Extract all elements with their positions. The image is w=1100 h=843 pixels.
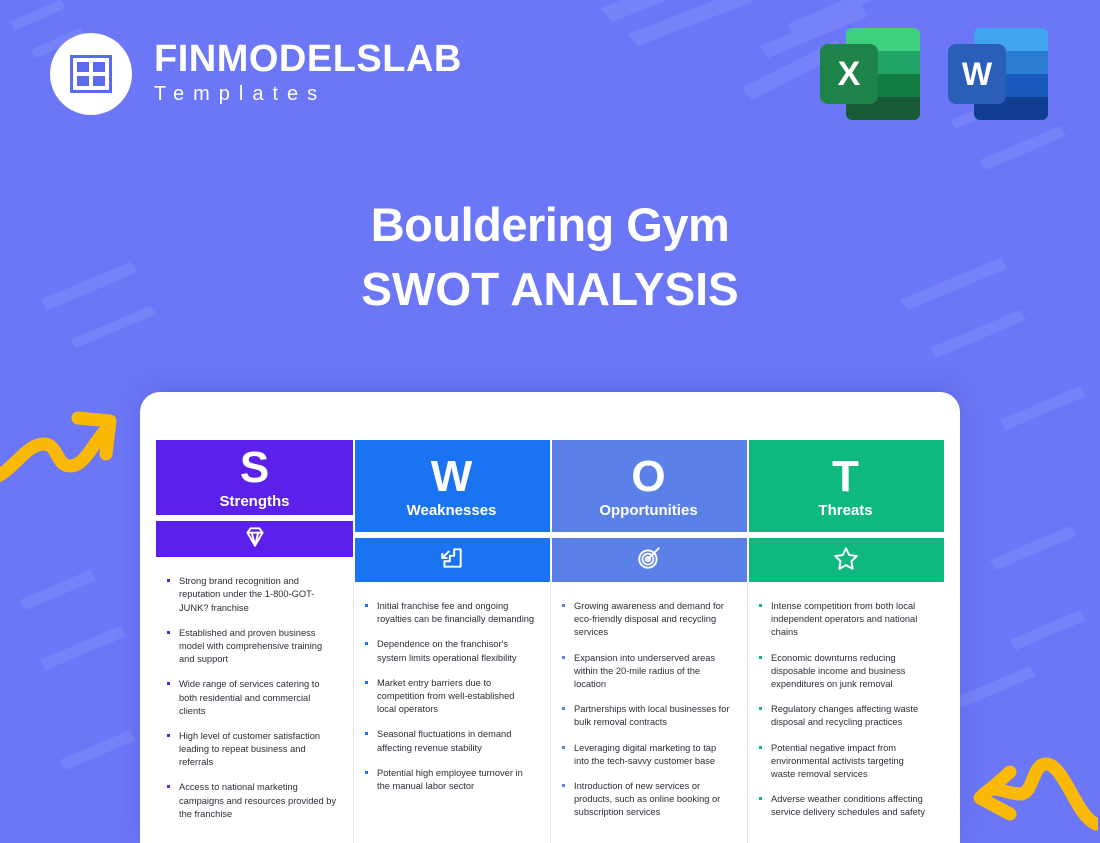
list-item: Regulatory changes affecting waste dispo… — [758, 703, 930, 729]
swot-bullet-list: Intense competition from both local inde… — [758, 600, 930, 819]
list-item: Potential negative impact from environme… — [758, 742, 930, 782]
swot-body-weaknesses: Initial franchise fee and ongoing royalt… — [353, 582, 550, 843]
swot-column-strengths: S Strengths Strong brand recognition and… — [156, 440, 353, 843]
page-subtitle: SWOT ANALYSIS — [0, 261, 1100, 319]
swot-header-opportunities[interactable]: O Opportunities — [550, 440, 747, 532]
list-item: Strong brand recognition and reputation … — [166, 575, 339, 615]
descending-stairs-icon — [439, 545, 465, 576]
swot-column-threats: T Threats Intense competition from both … — [747, 440, 944, 843]
word-icon[interactable]: W — [948, 28, 1048, 120]
list-item: High level of customer satisfaction lead… — [166, 730, 339, 770]
list-item: Seasonal fluctuations in demand affectin… — [364, 728, 536, 754]
star-icon — [833, 545, 859, 576]
list-item: Intense competition from both local inde… — [758, 600, 930, 640]
swot-letter: O — [631, 455, 665, 499]
list-item: Initial franchise fee and ongoing royalt… — [364, 600, 536, 626]
swot-bullet-list: Strong brand recognition and reputation … — [166, 575, 339, 821]
swot-letter: S — [240, 446, 269, 490]
page-title-block: Bouldering Gym SWOT ANALYSIS — [0, 196, 1100, 318]
list-item: Expansion into underserved areas within … — [561, 652, 733, 692]
page-header: FINMODELSLAB Templates X W — [0, 0, 1100, 150]
list-item: Established and proven business model wi… — [166, 627, 339, 667]
swot-icon-cell-opportunities — [550, 538, 747, 582]
swot-bullet-list: Growing awareness and demand for eco-fri… — [561, 600, 733, 819]
list-item: Growing awareness and demand for eco-fri… — [561, 600, 733, 640]
brand-subtitle: Templates — [154, 80, 462, 108]
swot-icon-cell-strengths — [156, 521, 353, 557]
excel-icon[interactable]: X — [820, 28, 920, 120]
swot-letter: W — [431, 455, 473, 499]
grid-logo-icon — [50, 33, 132, 115]
excel-icon-letter: X — [820, 44, 878, 104]
swot-matrix: S Strengths Strong brand recognition and… — [156, 440, 944, 843]
office-format-icons: X W — [820, 28, 1048, 120]
swot-column-weaknesses: W Weaknesses Initial franchise fee and o… — [353, 440, 550, 843]
swot-icon-cell-threats — [747, 538, 944, 582]
swot-label: Threats — [818, 503, 872, 518]
list-item: Partnerships with local businesses for b… — [561, 703, 733, 729]
swot-body-strengths: Strong brand recognition and reputation … — [156, 557, 353, 843]
page-title: Bouldering Gym — [0, 196, 1100, 255]
swot-header-strengths[interactable]: S Strengths — [156, 440, 353, 515]
swot-letter: T — [832, 455, 859, 499]
target-icon — [636, 545, 662, 576]
brand-name: FINMODELSLAB — [154, 40, 462, 80]
swot-card: S Strengths Strong brand recognition and… — [140, 392, 960, 843]
list-item: Adverse weather conditions affecting ser… — [758, 793, 930, 819]
swot-label: Weaknesses — [407, 503, 497, 518]
swot-label: Strengths — [219, 494, 289, 509]
list-item: Economic downturns reducing disposable i… — [758, 652, 930, 692]
diamond-icon — [242, 524, 268, 555]
squiggly-arrow-down-left-icon — [970, 752, 1098, 843]
list-item: Leveraging digital marketing to tap into… — [561, 742, 733, 768]
swot-body-opportunities: Growing awareness and demand for eco-fri… — [550, 582, 747, 843]
list-item: Wide range of services catering to both … — [166, 678, 339, 718]
list-item: Market entry barriers due to competition… — [364, 677, 536, 717]
swot-header-threats[interactable]: T Threats — [747, 440, 944, 532]
swot-header-weaknesses[interactable]: W Weaknesses — [353, 440, 550, 532]
list-item: Introduction of new services or products… — [561, 780, 733, 820]
swot-body-threats: Intense competition from both local inde… — [747, 582, 944, 843]
brand-logo[interactable]: FINMODELSLAB Templates — [50, 33, 462, 115]
swot-icon-cell-weaknesses — [353, 538, 550, 582]
squiggly-arrow-up-right-icon — [0, 404, 120, 495]
word-icon-letter: W — [948, 44, 1006, 104]
list-item: Potential high employee turnover in the … — [364, 767, 536, 793]
list-item: Access to national marketing campaigns a… — [166, 781, 339, 821]
list-item: Dependence on the franchisor's system li… — [364, 638, 536, 664]
swot-column-opportunities: O Opportunities Growing awareness and de… — [550, 440, 747, 843]
swot-bullet-list: Initial franchise fee and ongoing royalt… — [364, 600, 536, 793]
swot-label: Opportunities — [599, 503, 697, 518]
